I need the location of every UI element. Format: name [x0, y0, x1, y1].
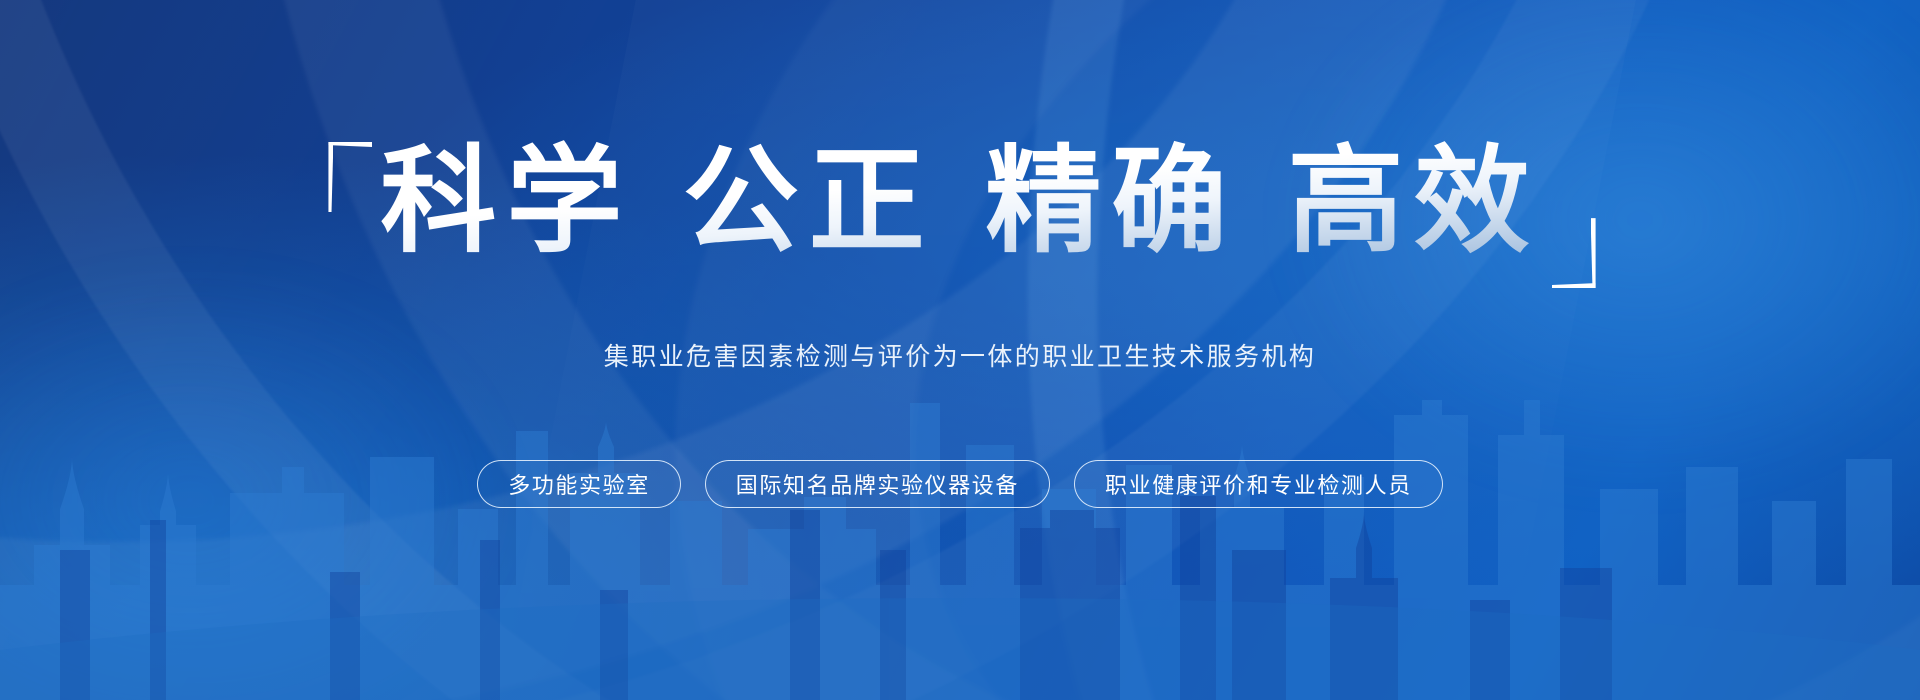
subtitle: 集职业危害因素检测与评价为一体的职业卫生技术服务机构	[0, 337, 1920, 373]
feature-pill-group: 多功能实验室 国际知名品牌实验仪器设备 职业健康评价和专业检测人员	[0, 460, 1920, 508]
feature-pill-equipment[interactable]: 国际知名品牌实验仪器设备	[705, 460, 1050, 508]
banner-content: 科学 公正 精确 高效 集职业危害因素检测与评价为一体的职业卫生技术服务机构 多…	[0, 0, 1920, 700]
feature-pill-staff[interactable]: 职业健康评价和专业检测人员	[1074, 460, 1443, 508]
hero-banner: 科学 公正 精确 高效 集职业危害因素检测与评价为一体的职业卫生技术服务机构 多…	[0, 0, 1920, 700]
feature-pill-lab[interactable]: 多功能实验室	[477, 460, 681, 508]
headline-box: 科学 公正 精确 高效	[328, 140, 1591, 264]
bracket-top-left-icon	[328, 142, 372, 212]
headline-region: 科学 公正 精确 高效	[0, 140, 1920, 264]
page-title: 科学 公正 精确 高效	[380, 140, 1539, 264]
bracket-bottom-right-icon	[1552, 218, 1596, 288]
